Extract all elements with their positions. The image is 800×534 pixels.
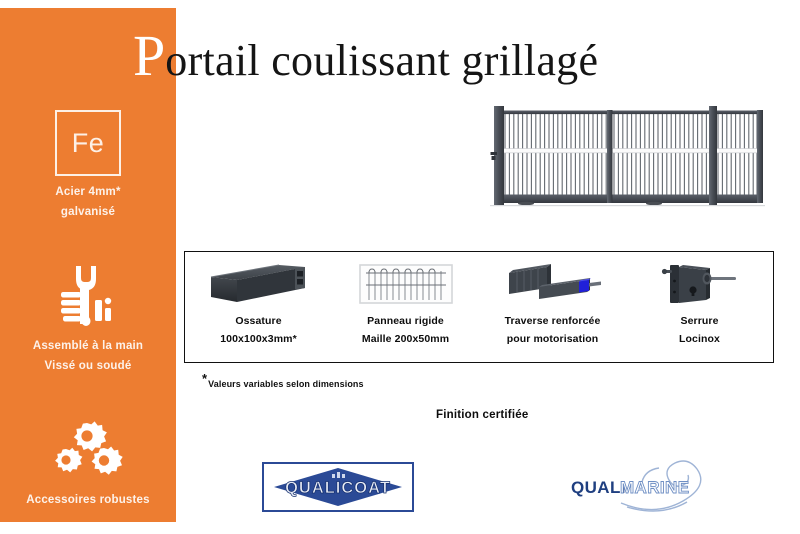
feature-steel: Fe Acier 4mm* galvanisé [0, 104, 176, 222]
frame-profile-icon [185, 258, 332, 310]
feature-assembly-label-2: Vissé ou soudé [0, 356, 176, 376]
component-ossature-sub: 100x100x3mm* [220, 332, 297, 347]
svg-text:MARINE: MARINE [620, 478, 689, 497]
component-serrure-label: Serrure [680, 314, 718, 329]
fe-badge-text: Fe [72, 130, 105, 157]
component-panneau-sub: Maille 200x50mm [362, 332, 449, 347]
component-ossature-label: Ossature [235, 314, 281, 329]
hand-with-wrench-icon [0, 258, 176, 336]
rigid-mesh-panel-icon [332, 258, 479, 310]
sliding-mesh-gate-photo [476, 95, 772, 220]
feature-accessories: Accessoires robustes [0, 412, 176, 510]
feature-steel-label-1: Acier 4mm* [0, 182, 176, 202]
feature-steel-label-2: galvanisé [0, 202, 176, 222]
component-traverse-label: Traverse renforcée [505, 314, 601, 329]
component-panneau-rigide: Panneau rigide Maille 200x50mm [332, 252, 479, 362]
component-serrure: Serrure Locinox [626, 252, 773, 362]
qualicoat-logo: QUALICOAT [262, 462, 414, 512]
footnote-text: Valeurs variables selon dimensions [208, 379, 363, 389]
svg-text:QUALICOAT: QUALICOAT [285, 479, 391, 497]
component-traverse: Traverse renforcée pour motorisation [479, 252, 626, 362]
page-title-rest: ortail coulissant grillagé [165, 36, 598, 85]
footnote: *Valeurs variables selon dimensions [202, 379, 364, 389]
feature-assembly-label-1: Assemblé à la main [0, 336, 176, 356]
svg-text:QUALI: QUALI [571, 478, 626, 497]
certification-heading: Finition certifiée [436, 409, 528, 421]
component-serrure-sub: Locinox [679, 332, 720, 347]
components-box: Ossature 100x100x3mm* [184, 251, 774, 363]
feature-assembly: Assemblé à la main Vissé ou soudé [0, 258, 176, 376]
qualimarine-logo: QUALI MARINE [563, 459, 713, 515]
gears-icon [0, 412, 176, 490]
product-sheet-page: Fe Acier 4mm* galvanisé [0, 0, 800, 534]
fe-chemical-symbol-icon: Fe [0, 104, 176, 182]
motorisation-crossbar-icon [479, 258, 626, 310]
component-panneau-label: Panneau rigide [367, 314, 444, 329]
feature-accessories-label-1: Accessoires robustes [0, 490, 176, 510]
component-ossature: Ossature 100x100x3mm* [185, 252, 332, 362]
footnote-marker: * [202, 371, 207, 386]
page-title: Portail coulissant grillagé [133, 27, 598, 87]
fe-badge: Fe [55, 110, 121, 176]
component-traverse-sub: pour motorisation [507, 332, 599, 347]
lock-icon [626, 258, 773, 310]
page-title-initial: P [133, 23, 165, 88]
